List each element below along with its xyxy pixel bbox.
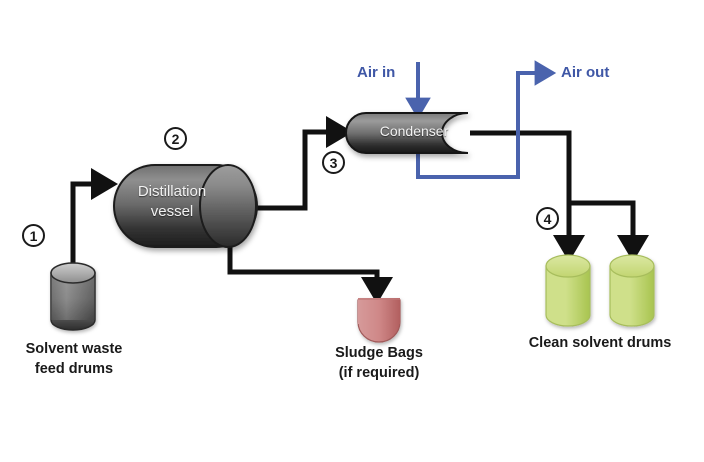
- sludge-bags-label-line2: (if required): [308, 364, 450, 382]
- process-flow-diagram: 1 2 3 4 Distillation vessel Condenser Ai…: [0, 0, 704, 462]
- clean-solvent-drums-label: Clean solvent drums: [510, 334, 690, 352]
- clean-solvent-drum-2-shape: [610, 255, 654, 326]
- step-number-1: 1: [22, 224, 45, 247]
- feed-drum-label-line2: feed drums: [8, 360, 140, 378]
- condenser-label: Condenser: [362, 123, 466, 140]
- distillation-vessel-label-line1: Distillation: [118, 183, 226, 201]
- pipe-feed-to-vessel: [73, 184, 104, 268]
- clean-solvent-drum-1-shape: [546, 255, 590, 326]
- step-number-4: 4: [536, 207, 559, 230]
- pipe-branch-to-drum-2: [569, 203, 633, 248]
- sludge-bag-shape: [358, 298, 400, 342]
- air-out-label: Air out: [561, 64, 609, 81]
- step-number-3: 3: [322, 151, 345, 174]
- distillation-vessel-label-line2: vessel: [118, 203, 226, 221]
- step-number-2: 2: [164, 127, 187, 150]
- air-in-label: Air in: [357, 64, 395, 81]
- feed-drum-label-line1: Solvent waste: [8, 340, 140, 358]
- sludge-bags-label-line1: Sludge Bags: [308, 344, 450, 362]
- solvent-waste-feed-drum-shape: [51, 263, 95, 330]
- pipe-vessel-to-sludge: [230, 244, 377, 290]
